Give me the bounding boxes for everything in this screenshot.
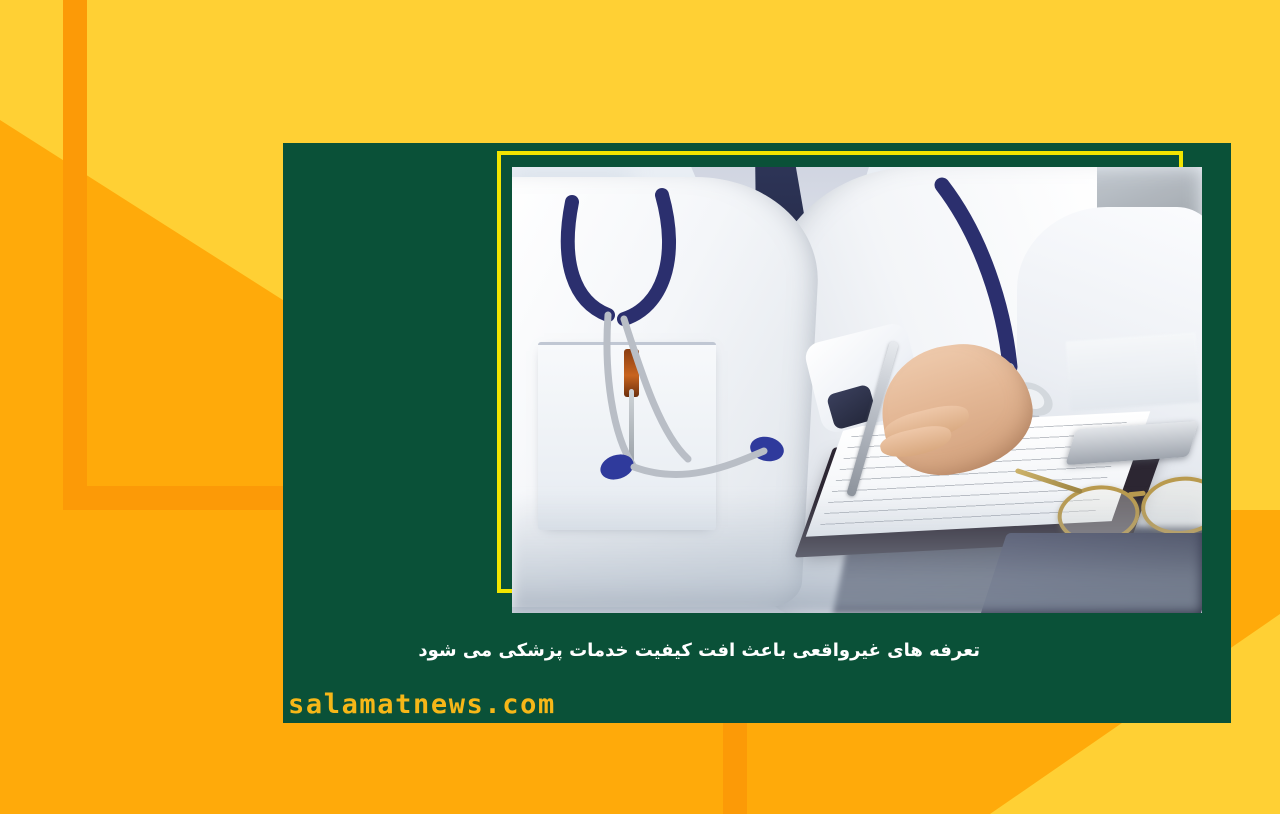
poster-canvas: تعرفه های غیرواقعی باعث افت کیفیت خدمات … [0,0,1280,814]
doctor-photo [512,167,1202,613]
loose-paper [1066,333,1201,412]
vertical-stripe-left [63,0,87,510]
desk-reflection [512,493,1202,613]
site-watermark: salamatnews.com [288,689,556,720]
headline-text: تعرفه های غیرواقعی باعث افت کیفیت خدمات … [418,640,980,661]
